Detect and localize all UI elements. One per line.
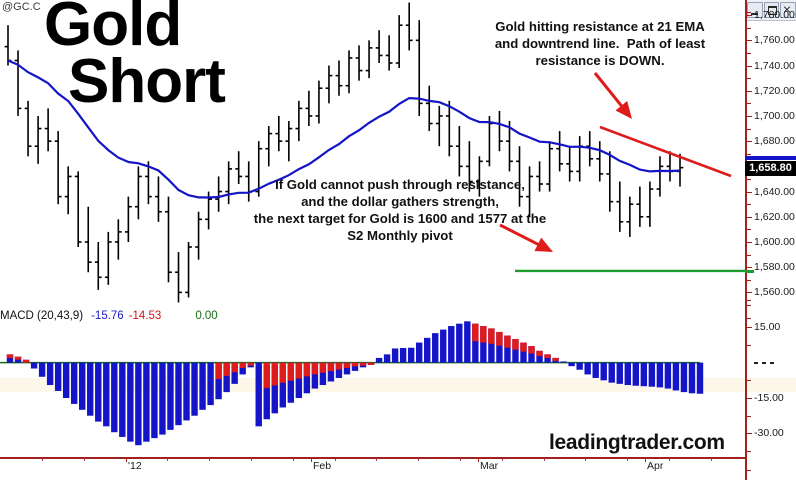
date-tick-minor: [585, 457, 586, 461]
date-tick-mark: [645, 457, 646, 462]
price-axis[interactable]: 1,780.001,760.001,740.001,720.001,700.00…: [745, 0, 796, 480]
support-axis-marker: [745, 270, 754, 273]
date-tick-minor: [209, 457, 210, 461]
macd-value: -15.76: [91, 310, 124, 322]
macd-zero-value: 0.00: [195, 310, 217, 322]
date-tick-minor: [335, 457, 336, 461]
price-tick-label: 1,620.00: [747, 211, 796, 224]
date-tick-minor: [126, 457, 127, 461]
price-tick-minor: [747, 78, 751, 79]
macd-tick-minor: [747, 345, 751, 346]
price-tick-minor: [747, 53, 751, 54]
title-line-1: Gold: [44, 0, 274, 53]
price-tick-label: 1,780.00: [747, 9, 796, 22]
date-tick-minor: [460, 457, 461, 461]
date-tick-minor: [711, 457, 712, 461]
date-tick-minor: [293, 457, 294, 461]
price-tick-label: 1,760.00: [747, 34, 796, 47]
date-axis[interactable]: [0, 457, 745, 459]
price-tick-minor: [747, 229, 751, 230]
macd-tick-label: 15.00: [747, 321, 796, 334]
date-tick-minor: [502, 457, 503, 461]
price-tick-label: 1,600.00: [747, 236, 796, 249]
date-tick-mark: [478, 457, 479, 462]
macd-tick-minor: [747, 416, 751, 417]
macd-legend: MACD (20,43,9)-15.76-14.530.00: [0, 310, 218, 322]
title-line-2: Short: [68, 53, 274, 110]
price-tick-label: 1,700.00: [747, 110, 796, 123]
downtrend-line: [600, 127, 731, 176]
macd-tick-minor: [747, 451, 751, 452]
price-tick-minor: [747, 305, 751, 306]
date-tick-minor: [627, 457, 628, 461]
price-tick-minor: [747, 255, 751, 256]
macd-label-text: MACD (20,43,9): [0, 310, 83, 322]
price-tick-minor: [747, 179, 751, 180]
axis-tick-minor: [747, 12, 751, 13]
price-tick-label: 1,640.00: [747, 186, 796, 199]
price-tick-minor: [747, 28, 751, 29]
date-tick-label: '12: [128, 460, 142, 472]
date-tick-mark: [311, 457, 312, 462]
price-tick-minor: [747, 154, 751, 155]
axis-tick-minor: [747, 470, 751, 471]
date-tick-minor: [669, 457, 670, 461]
macd-tick-minor: [747, 380, 751, 381]
axis-tick-minor: [747, 300, 751, 301]
price-tick-label: 1,740.00: [747, 60, 796, 73]
date-tick-label: Mar: [480, 460, 498, 472]
price-flag-marker: [745, 156, 796, 160]
price-tick-minor: [747, 280, 751, 281]
price-tick-label: 1,580.00: [747, 261, 796, 274]
last-price-flag: 1,658.80: [745, 161, 796, 176]
price-tick-minor: [747, 204, 751, 205]
arrow-to-resistance: [595, 73, 632, 119]
date-tick-minor: [167, 457, 168, 461]
watermark: leadingtrader.com: [549, 431, 725, 455]
page-title: Gold Short: [44, 0, 274, 110]
annotation-target: If Gold cannot push through resistance, …: [225, 176, 575, 245]
date-tick-label: Apr: [647, 460, 663, 472]
date-tick-minor: [418, 457, 419, 461]
price-tick-minor: [747, 129, 751, 130]
macd-tick-label: -30.00: [747, 427, 796, 440]
macd-tick-label: -15.00: [747, 392, 796, 405]
date-tick-label: Feb: [313, 460, 331, 472]
price-tick-label: 1,680.00: [747, 135, 796, 148]
price-tick-label: 1,720.00: [747, 85, 796, 98]
chart-window: 1,780.001,760.001,740.001,720.001,700.00…: [0, 0, 796, 480]
date-tick-minor: [251, 457, 252, 461]
date-tick-minor: [376, 457, 377, 461]
macd-zero-dash: [754, 362, 776, 364]
date-tick-minor: [42, 457, 43, 461]
date-tick-minor: [84, 457, 85, 461]
date-tick-minor: [544, 457, 545, 461]
symbol-label: @GC.C: [2, 1, 41, 13]
axis-tick-minor: [747, 318, 751, 319]
macd-histogram: [7, 321, 703, 445]
annotation-resistance: Gold hitting resistance at 21 EMA and do…: [465, 18, 735, 69]
price-tick-minor: [747, 103, 751, 104]
price-tick-label: 1,560.00: [747, 286, 796, 299]
macd-signal-value: -14.53: [129, 310, 162, 322]
